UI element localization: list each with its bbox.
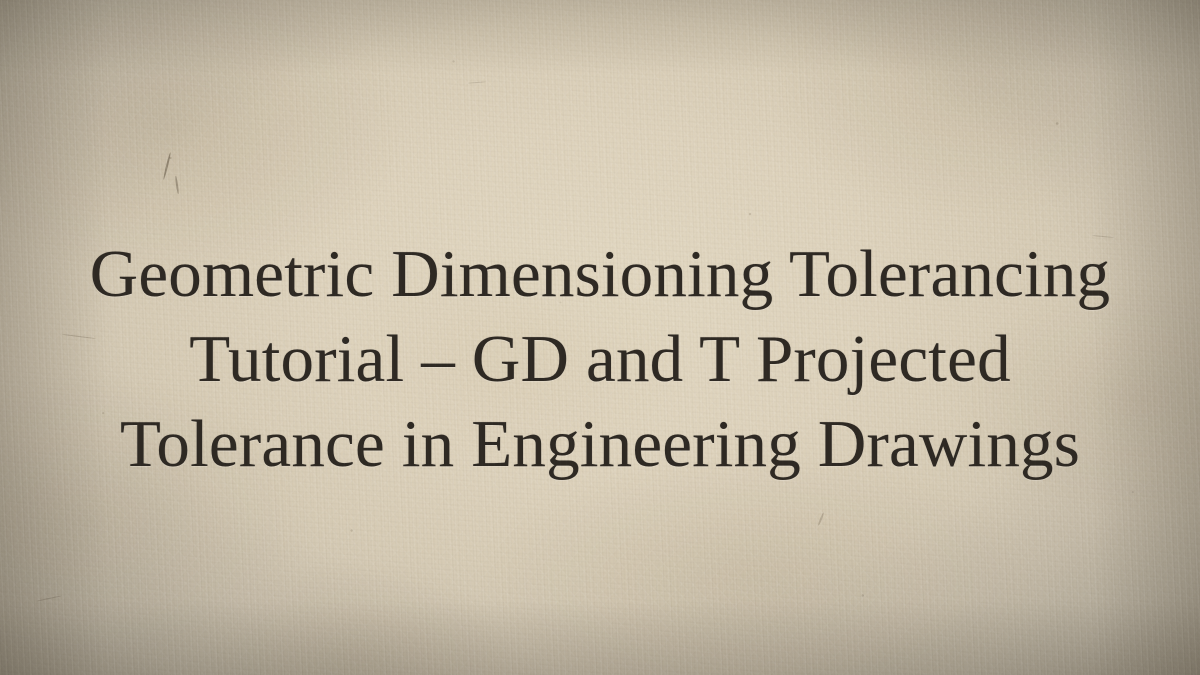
title-card-slide: Geometric Dimensioning Tolerancing Tutor… [0,0,1200,675]
title-line-2: Tutorial – GD and T Projected [0,317,1200,402]
title-block: Geometric Dimensioning Tolerancing Tutor… [0,232,1200,487]
title-line-1: Geometric Dimensioning Tolerancing [0,232,1200,317]
title-line-3: Tolerance in Engineering Drawings [0,402,1200,487]
